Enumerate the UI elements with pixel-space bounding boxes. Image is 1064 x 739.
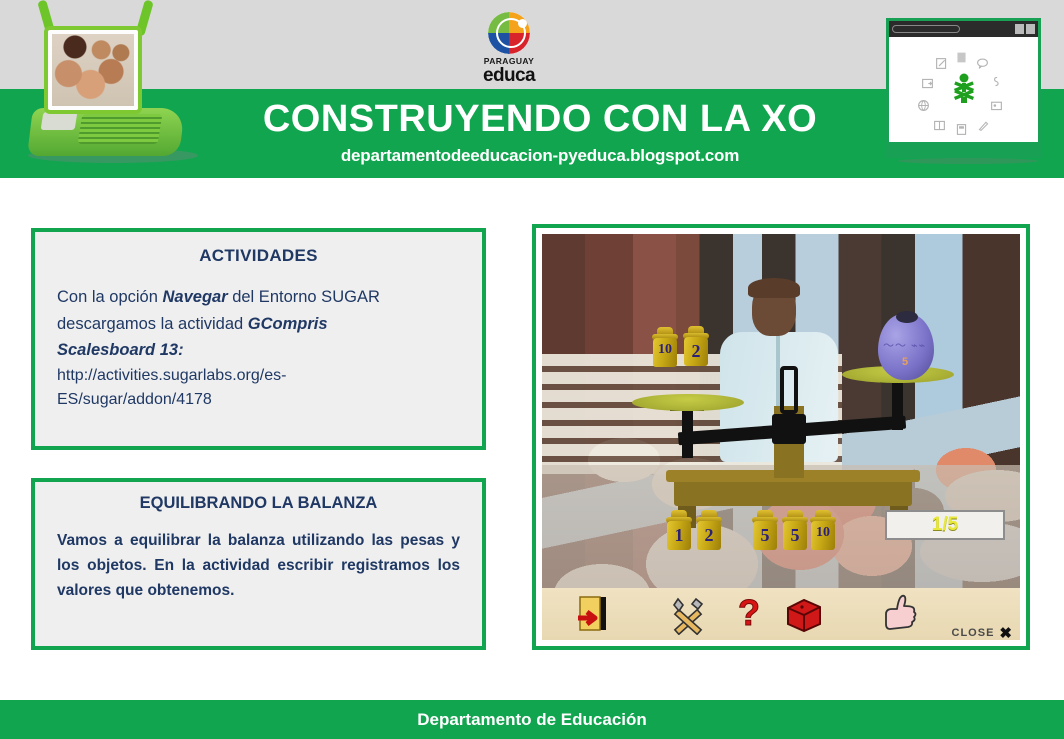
score-value: 1/5: [932, 514, 958, 536]
window-control-icon: [1015, 24, 1024, 34]
sugar-titlebar: [889, 21, 1038, 37]
pan-weight-10-label: 10: [650, 342, 680, 358]
activities-body: Con la opción Navegar del Entorno SUGAR …: [57, 284, 460, 412]
activities-panel: ACTIVIDADES Con la opción Navegar del En…: [31, 228, 486, 450]
tray-weight-2[interactable]: 2: [694, 510, 724, 550]
blog-url-subtitle: departamentodeeducacion-pyeduca.blogspot…: [190, 146, 890, 166]
activities-url-line-2[interactable]: ES/sugar/addon/4178: [57, 388, 460, 412]
window-menu-icon: [1026, 24, 1035, 34]
tray-weight-1[interactable]: 1: [664, 510, 694, 550]
sugar-home-view: [889, 37, 1038, 142]
pan-weight-10[interactable]: 10: [650, 327, 680, 367]
logo-text-educa: educa: [470, 65, 548, 87]
activities-line1-post: del Entorno SUGAR: [228, 288, 380, 306]
activities-line-1: Con la opción Navegar del Entorno SUGAR: [57, 284, 460, 311]
book-activity-icon: [955, 51, 968, 64]
vase-object[interactable]: 〜〜 ⌁⌁ 5: [878, 314, 934, 380]
tools-config-icon[interactable]: [668, 592, 710, 636]
close-label: CLOSE: [952, 627, 995, 639]
write-activity-icon: [935, 57, 948, 70]
xo-touchpad: [41, 112, 78, 130]
children-photo: [52, 34, 134, 106]
xo-keyboard: [78, 114, 163, 144]
exit-icon[interactable]: [576, 592, 616, 636]
page-header: PARAGUAY educa CONSTRUYENDO C: [0, 0, 1064, 178]
tray-weight-5b-label: 5: [780, 525, 810, 546]
paraguay-educa-logo: PARAGUAY educa: [470, 12, 548, 86]
tray-weight-2-label: 2: [694, 525, 724, 546]
sugar-desktop-window: [886, 18, 1041, 158]
gcompris-canvas: 10 2 〜〜 ⌁⌁ 5 1 2 5 5: [542, 234, 1020, 640]
gcompris-toolbar: ?: [542, 588, 1020, 640]
logo-ball-icon: [488, 12, 530, 54]
xo-laptop-image: [18, 8, 186, 163]
thumbs-up-ok-icon[interactable]: [878, 592, 920, 636]
page-footer: Departamento de Educación: [0, 700, 1064, 739]
chat-activity-icon: [976, 57, 989, 70]
sugar-window-footer: [889, 142, 1038, 155]
tray-weight-5b[interactable]: 5: [780, 510, 810, 550]
activities-gcompris-bold: GCompris: [248, 315, 328, 333]
tray-weight-10-label: 10: [808, 525, 838, 541]
browse-globe-icon: [917, 99, 930, 112]
vase-label: 5: [902, 356, 908, 368]
activities-line-3: Scalesboard 13:: [57, 337, 460, 364]
activities-url-line-1[interactable]: http://activities.sugarlabs.org/es-: [57, 364, 460, 388]
sugar-window-shadow: [898, 158, 1038, 164]
tray-weight-5a[interactable]: 5: [750, 510, 780, 550]
equilibrio-title: EQUILIBRANDO LA BALANZA: [57, 494, 460, 513]
tray-weight-10[interactable]: 10: [808, 510, 838, 550]
music-activity-icon: [989, 75, 1002, 88]
tray-weight-5a-label: 5: [750, 525, 780, 546]
activities-line2-pre: descargamos la actividad: [57, 315, 248, 333]
pan-weight-2[interactable]: 2: [681, 326, 711, 366]
gcompris-screenshot-panel: 10 2 〜〜 ⌁⌁ 5 1 2 5 5: [532, 224, 1030, 650]
journal-activity-icon: [921, 77, 934, 90]
score-box: 1/5: [885, 510, 1005, 540]
svg-text:?: ?: [738, 593, 760, 633]
read-book-icon: [933, 119, 946, 132]
level-die-icon[interactable]: [782, 592, 826, 636]
paint-activity-icon: [977, 119, 990, 132]
close-button[interactable]: CLOSE ✖: [952, 624, 1012, 642]
pan-weight-2-label: 2: [681, 341, 711, 362]
tray-weight-1-label: 1: [664, 525, 694, 546]
activities-scalesboard-bold: Scalesboard 13:: [57, 341, 184, 359]
scale-pan-left[interactable]: [632, 394, 744, 411]
activities-line1-pre: Con la opción: [57, 288, 163, 306]
footer-text: Departamento de Educación: [417, 710, 647, 730]
xo-screen: [44, 26, 142, 114]
calculate-activity-icon: [955, 123, 968, 136]
equilibrio-body: Vamos a equilibrar la balanza utilizando…: [57, 529, 460, 603]
sugar-xo-avatar-icon: [951, 73, 977, 107]
activities-navegar-bold: Navegar: [163, 288, 228, 306]
close-icon: ✖: [999, 624, 1012, 642]
page-title: CONSTRUYENDO CON LA XO: [190, 98, 890, 141]
help-question-icon[interactable]: ?: [732, 592, 766, 636]
activities-line-2: descargamos la actividad GCompris: [57, 311, 460, 338]
record-activity-icon: [990, 99, 1003, 112]
sugar-address-bar: [892, 25, 960, 33]
activities-title: ACTIVIDADES: [57, 246, 460, 266]
scale-pointer-icon: [780, 366, 798, 414]
equilibrio-panel: EQUILIBRANDO LA BALANZA Vamos a equilibr…: [31, 478, 486, 650]
sugar-titlebar-icons: [1015, 24, 1035, 34]
